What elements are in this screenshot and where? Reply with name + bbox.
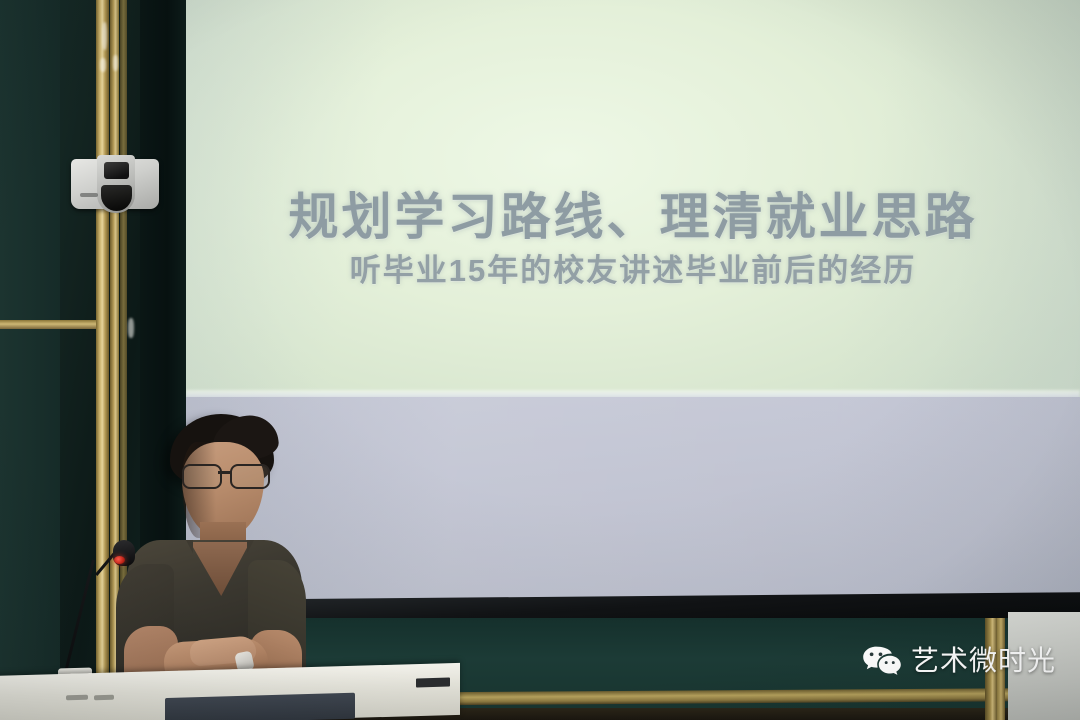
speaker-glasses <box>180 464 272 486</box>
rail-glint <box>113 55 118 71</box>
podium-vent-slot <box>66 695 88 701</box>
podium-brand-plate <box>416 678 450 688</box>
sensor-brand-mark <box>80 193 98 197</box>
left-wall-panel <box>0 0 60 720</box>
gold-horizontal-trim <box>0 320 96 329</box>
podium-vent-slot <box>94 695 114 701</box>
sensor-lens-top-icon <box>104 162 129 179</box>
glasses-bridge <box>218 471 231 474</box>
slide-title: 规划学习路线、理清就业思路 <box>186 192 1080 242</box>
watermark-text: 艺术微时光 <box>911 647 1056 675</box>
glasses-lens-right <box>230 464 270 489</box>
podium-control-screen[interactable] <box>165 693 355 720</box>
wechat-icon <box>862 645 902 677</box>
rail-glint <box>100 58 106 72</box>
rail-glint <box>102 22 107 50</box>
slide-subtitle: 听毕业15年的校友讲述毕业前后的经历 <box>186 255 1080 286</box>
slide-text-block: 规划学习路线、理清就业思路 听毕业15年的校友讲述毕业前后的经历 <box>186 192 1080 286</box>
photo-scene: 规划学习路线、理清就业思路 听毕业15年的校友讲述毕业前后的经历 <box>0 0 1080 720</box>
slide-background-lower <box>186 397 1080 612</box>
speaker-figure <box>108 414 308 684</box>
watermark: 艺术微时光 <box>862 645 1056 677</box>
projection-screen: 规划学习路线、理清就业思路 听毕业15年的校友讲述毕业前后的经历 <box>186 0 1080 612</box>
microphone-status-led <box>114 556 125 564</box>
wall-mounted-sensor <box>71 155 159 213</box>
glasses-lens-left <box>182 464 222 489</box>
rail-glint <box>128 318 134 338</box>
